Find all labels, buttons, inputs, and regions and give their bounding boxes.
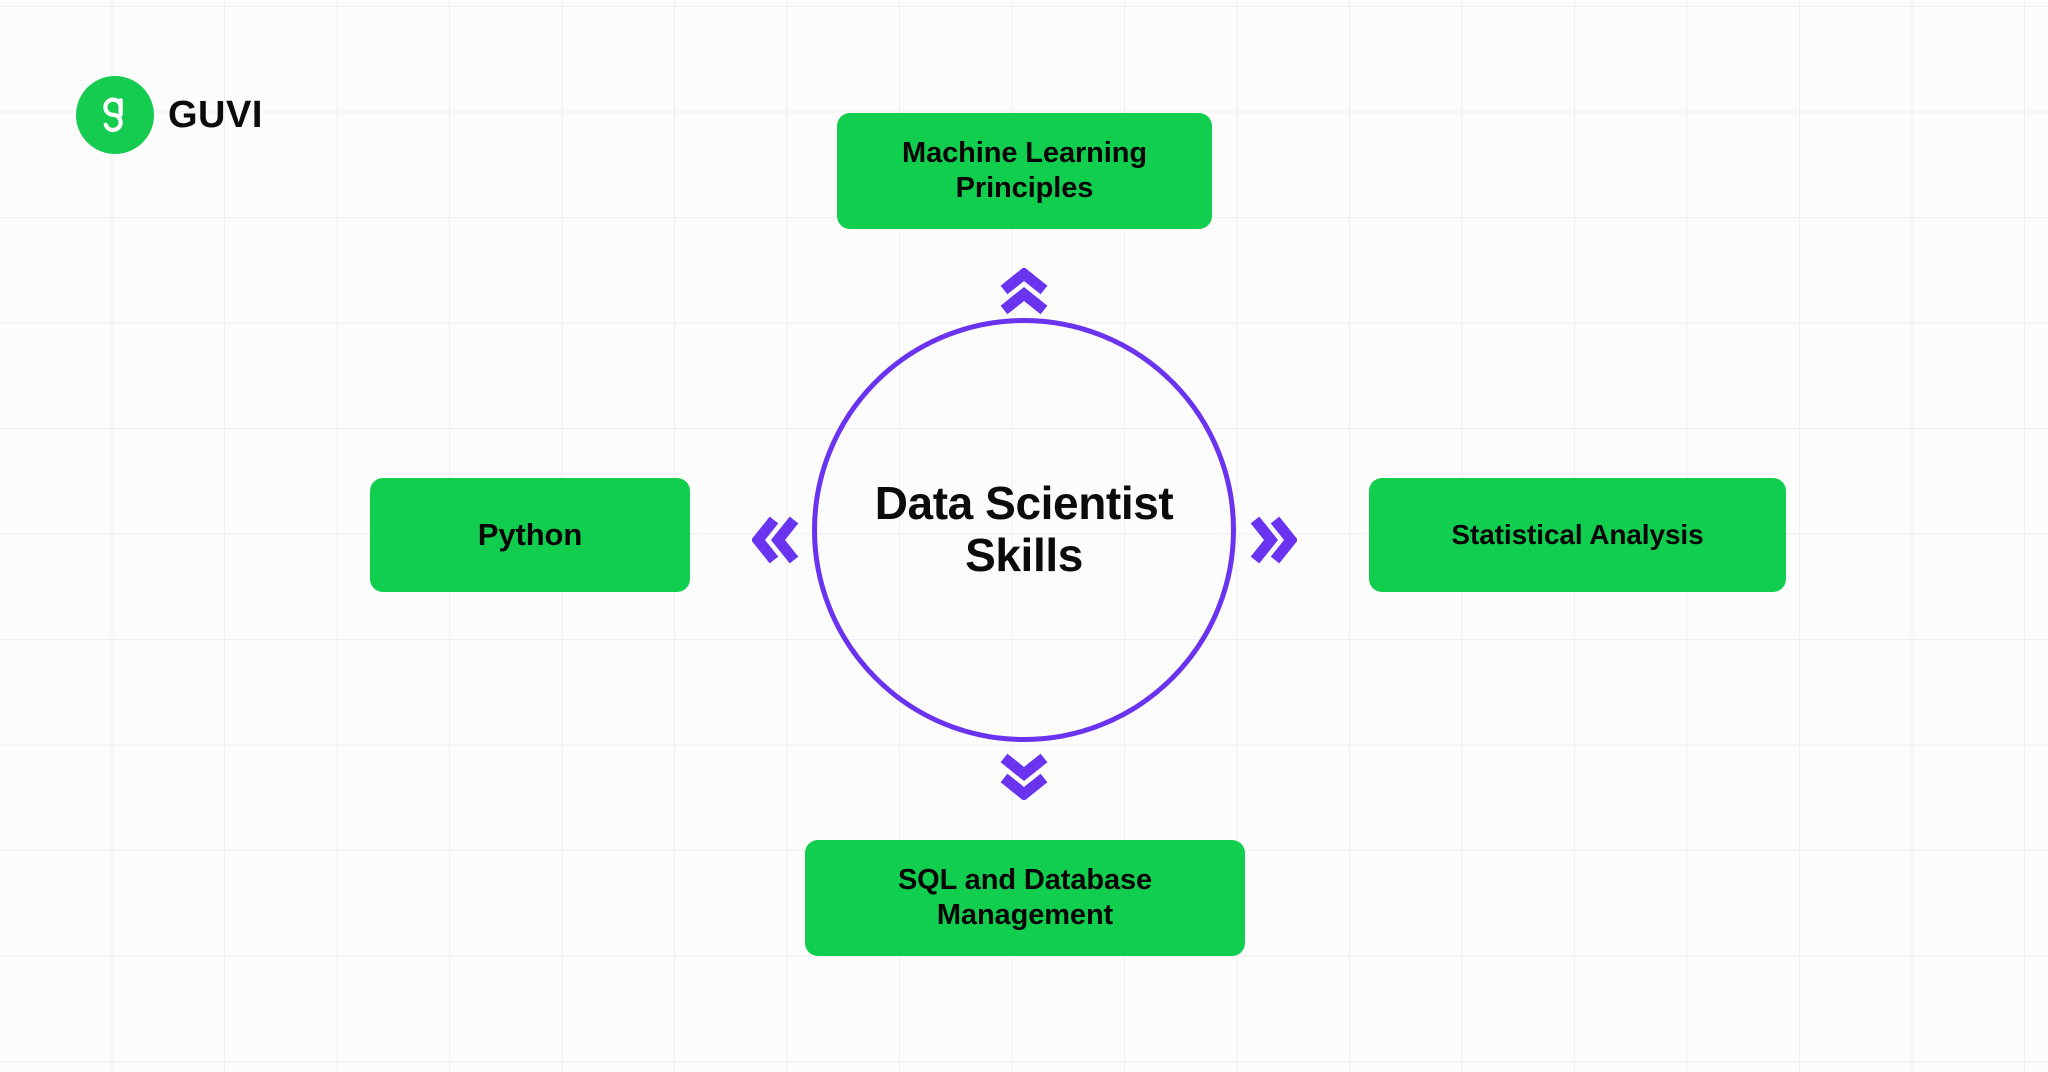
double-chevron-left-icon: [752, 512, 800, 568]
center-hub-circle: Data Scientist Skills: [812, 318, 1236, 742]
skill-node-label: Python: [478, 516, 582, 554]
skill-node-python[interactable]: Python: [370, 478, 690, 592]
skill-node-statistical-analysis[interactable]: Statistical Analysis: [1369, 478, 1786, 592]
skill-node-label: SQL and Database Management: [898, 863, 1152, 934]
skill-node-machine-learning-principles[interactable]: Machine Learning Principles: [837, 113, 1212, 229]
guvi-g-logo-icon: [76, 76, 154, 154]
skill-node-label: Statistical Analysis: [1451, 518, 1703, 552]
double-chevron-right-icon: [1249, 512, 1297, 568]
brand-logo: GUVI: [76, 76, 263, 154]
diagram-canvas: GUVI Machine Learning Principles Python …: [0, 0, 2048, 1072]
skill-node-sql-and-database-management[interactable]: SQL and Database Management: [805, 840, 1245, 956]
double-chevron-up-icon: [996, 268, 1052, 316]
brand-name: GUVI: [168, 96, 263, 134]
double-chevron-down-icon: [996, 752, 1052, 800]
center-hub-label: Data Scientist Skills: [844, 478, 1204, 581]
skill-node-label: Machine Learning Principles: [902, 136, 1147, 207]
